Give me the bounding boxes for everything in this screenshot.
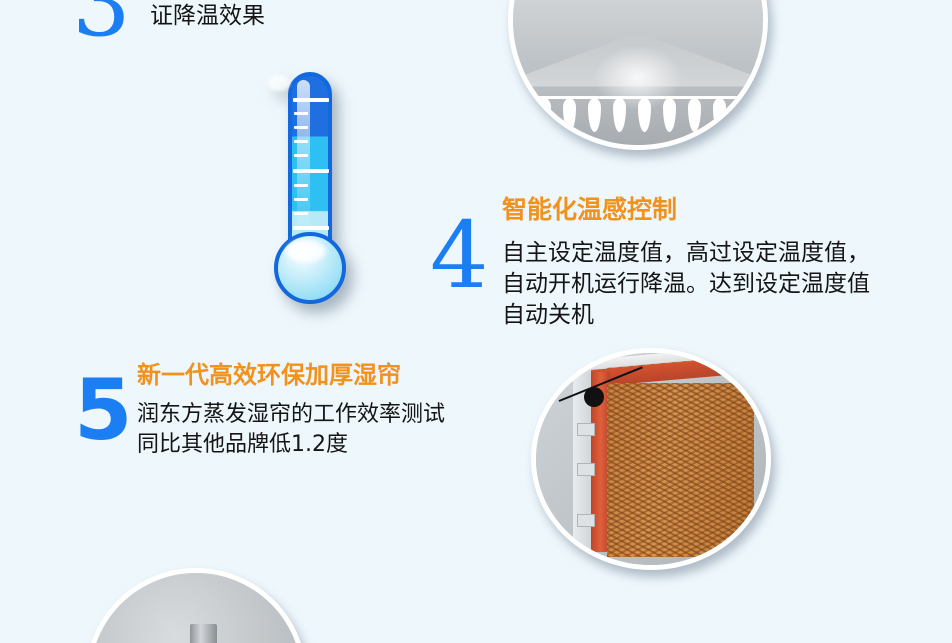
pad-honeycomb-surface [607, 383, 754, 557]
thermometer-tick [294, 184, 308, 187]
feature-number-3: 3 [72, 0, 131, 50]
thermometer-tick [294, 140, 308, 143]
pad-clip [577, 514, 595, 527]
thermometer-tick [294, 112, 308, 115]
feature-body-4: 自主设定温度值，高过设定温度值， 自动开机运行降温。达到设定温度值 自动关机 [502, 238, 922, 331]
thermometer-tick [294, 154, 308, 157]
feature-body-4-line-1: 自主设定温度值，高过设定温度值， [502, 238, 922, 269]
thermometer-tick [294, 198, 308, 201]
thermometer-tick [293, 226, 329, 230]
pad-clip [577, 423, 595, 436]
pad-clip [577, 463, 595, 476]
feature-body-5-line-2: 同比其他品牌低1.2度 [137, 430, 517, 460]
water-droplet-icon [736, 98, 749, 132]
feature-headline-4: 智能化温感控制 [502, 196, 677, 224]
feature-body-5: 润东方蒸发湿帘的工作效率测试 同比其他品牌低1.2度 [137, 400, 517, 460]
thermometer-tick [293, 169, 329, 173]
nozzle-stem [190, 624, 218, 643]
roof-water-distribution-photo [508, 0, 768, 150]
cooling-pad-photo [531, 348, 771, 570]
feature-number-5: 5 [74, 368, 132, 452]
thermometer-cap-highlight [268, 75, 290, 91]
feature-body-3: 统，分水均匀，水不堵塞，保 证降温效果 [150, 0, 510, 32]
feature-body-5-line-1: 润东方蒸发湿帘的工作效率测试 [137, 400, 517, 430]
thermometer-tick [294, 126, 308, 129]
nozzle-valve-photo [85, 568, 307, 643]
feature-page: 3 统，分水均匀，水不堵塞，保 证降温效果 [0, 0, 952, 643]
feature-body-4-line-2: 自动开机运行降温。达到设定温度值 [502, 269, 922, 300]
thermometer-bulb-highlight [286, 240, 326, 262]
thermometer-tick [293, 98, 329, 102]
feature-headline-5: 新一代高效环保加厚湿帘 [137, 362, 401, 388]
thermometer-tick [294, 212, 308, 215]
feature-body-4-line-3: 自动关机 [502, 300, 922, 331]
feature-number-4: 4 [430, 210, 489, 302]
feature-body-3-line-2: 证降温效果 [150, 1, 510, 32]
thermometer-illustration [258, 72, 358, 312]
